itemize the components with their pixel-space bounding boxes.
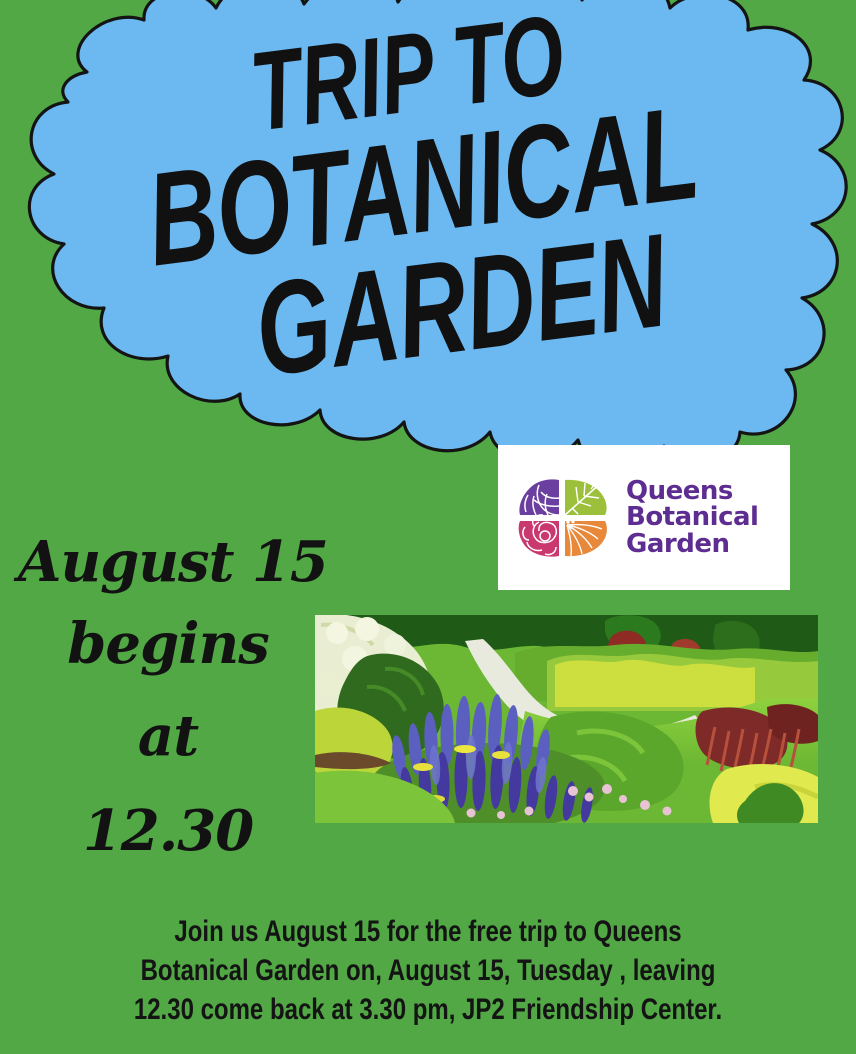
logo-wordmark-line-1: Queens (626, 478, 758, 505)
event-description: Join us August 15 for the free trip to Q… (0, 912, 856, 1029)
logo-wordmark-line-2: Botanical (626, 504, 758, 531)
leaf-quadrant (565, 479, 607, 514)
event-details-script: August 15 begins at 12.30 (18, 527, 318, 878)
rose-quadrant (519, 514, 559, 556)
headline-line-1: TRIP TO (93, 0, 721, 163)
poster-canvas: TRIP TO BOTANICAL GARDEN (0, 0, 856, 1054)
event-time: 12.30 (18, 785, 318, 878)
headline-line-3: GARDEN (163, 210, 759, 401)
headline-line-2: BOTANICAL (108, 89, 737, 284)
description-line-3: 12.30 come back at 3.30 pm, JP2 Friendsh… (86, 990, 771, 1029)
event-date: August 15 (18, 527, 318, 599)
poster-headline: TRIP TO BOTANICAL GARDEN (0, 0, 856, 454)
qbg-flower-logo-icon (512, 468, 612, 568)
logo-wordmark-line-3: Garden (626, 531, 758, 558)
event-at-label: at (18, 689, 318, 784)
fan-flower-quadrant (565, 519, 607, 555)
event-begins-label: begins (18, 599, 318, 690)
logo-wordmark: Queens Botanical Garden (626, 478, 758, 558)
pinecone-quadrant (519, 479, 559, 515)
blue-blob-shape (0, 0, 856, 456)
description-line-2: Botanical Garden on, August 15, Tuesday … (86, 951, 771, 990)
garden-photo-illustration (315, 615, 818, 823)
queens-botanical-garden-logo: Queens Botanical Garden (498, 445, 790, 590)
description-line-1: Join us August 15 for the free trip to Q… (86, 912, 771, 951)
blob-path (29, 0, 846, 456)
garden-photo (315, 615, 818, 823)
